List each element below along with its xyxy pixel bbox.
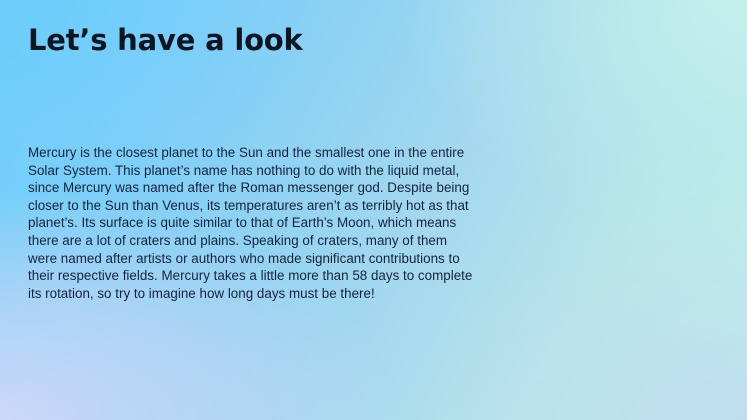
- slide-title: Let’s have a look: [28, 22, 303, 58]
- slide: Let’s have a look Mercury is the closest…: [0, 0, 747, 420]
- slide-content: Let’s have a look Mercury is the closest…: [0, 0, 747, 420]
- slide-body-paragraph: Mercury is the closest planet to the Sun…: [28, 144, 473, 302]
